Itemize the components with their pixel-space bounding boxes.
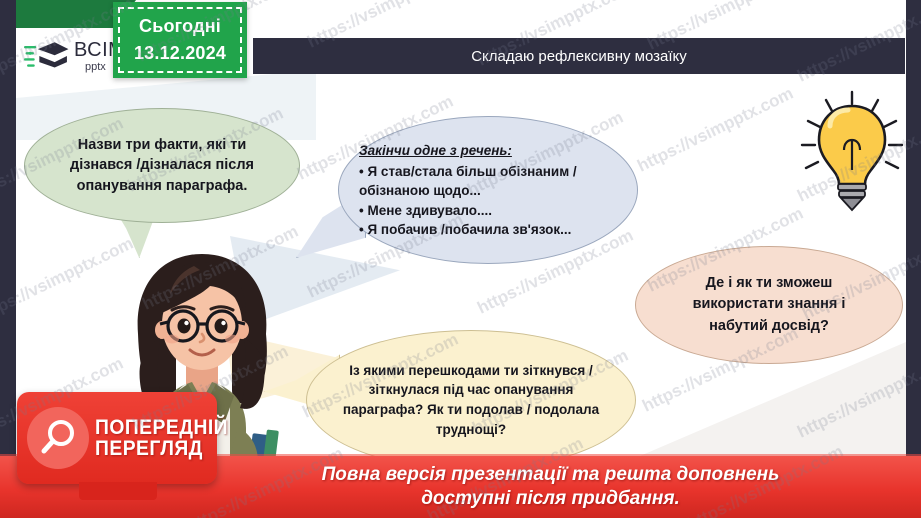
blue-bubble-item-3: • Я побачив /побачила зв'язок... bbox=[359, 220, 617, 239]
speech-bubble-green: Назви три факти, які ти дізнався /дізнал… bbox=[24, 108, 300, 223]
date-badge-label: Сьогодні bbox=[139, 16, 221, 37]
blue-bubble-item-2: • Мене здивувало.... bbox=[359, 201, 617, 220]
purchase-message-line-1: Повна версія презентації та решта доповн… bbox=[322, 463, 780, 487]
yellow-bubble-text: Із якими перешкодами ти зіткнувся / зітк… bbox=[327, 361, 615, 439]
pink-bubble-text: Де і як ти зможеш використати знання і н… bbox=[662, 273, 876, 336]
page-title: Складаю рефлексивну мозаїку bbox=[471, 48, 687, 65]
slide-title-bar: Складаю рефлексивну мозаїку bbox=[253, 38, 905, 74]
speech-bubble-pink: Де і як ти зможеш використати знання і н… bbox=[635, 246, 903, 364]
speech-bubble-blue: Закінчи одне з речень: • Я став/стала бі… bbox=[338, 116, 638, 264]
graduation-cap-icon bbox=[24, 39, 70, 73]
blue-bubble-item-1: • Я став/стала більш обізнаним / обізнан… bbox=[359, 162, 617, 200]
blue-bubble-lead: Закінчи одне з речень: bbox=[359, 141, 617, 160]
magnifier-circle bbox=[27, 407, 89, 469]
preview-badge[interactable]: ПОПЕРЕДНІЙ ПЕРЕГЛЯД bbox=[17, 392, 217, 484]
green-bubble-text: Назви три факти, які ти дізнався /дізнал… bbox=[47, 135, 277, 197]
purchase-banner-text: Повна версія презентації та решта доповн… bbox=[142, 463, 780, 511]
date-badge: Сьогодні 13.12.2024 bbox=[113, 2, 247, 78]
preview-label-line-1: ПОПЕРЕДНІЙ bbox=[95, 417, 228, 438]
speech-bubble-yellow: Із якими перешкодами ти зіткнувся / зітк… bbox=[306, 330, 636, 470]
presentation-slide: ВСІМ pptx Сьогодні 13.12.2024 Складаю ре… bbox=[0, 0, 921, 518]
date-badge-value: 13.12.2024 bbox=[134, 43, 226, 64]
purchase-message-line-2: доступні після придбання. bbox=[322, 487, 780, 511]
preview-badge-words: ПОПЕРЕДНІЙ ПЕРЕГЛЯД bbox=[95, 417, 240, 460]
lightbulb-illustration bbox=[796, 88, 908, 216]
magnifier-icon bbox=[36, 416, 80, 460]
preview-label-line-2: ПЕРЕГЛЯД bbox=[95, 438, 228, 459]
